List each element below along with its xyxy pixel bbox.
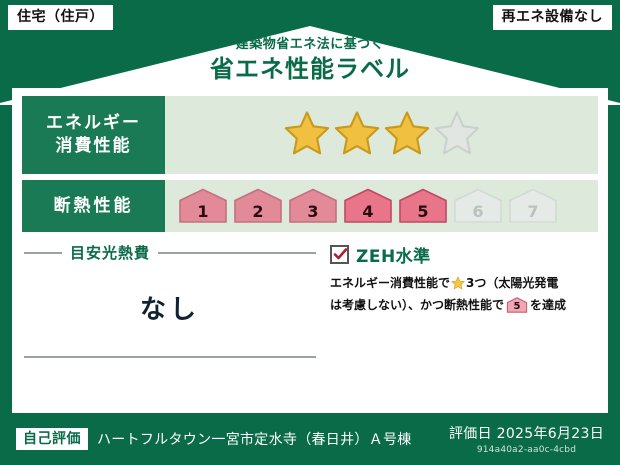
insulation-badge-4: 4	[342, 188, 394, 224]
zeh-title: ZEH水準	[356, 242, 431, 267]
insulation-badge-5: 5	[397, 188, 449, 224]
building-type-tag: 住宅（住戸）	[8, 5, 113, 30]
star-empty-icon	[434, 110, 480, 160]
star-filled-icon	[284, 110, 330, 160]
self-evaluation-badge: 自己評価	[16, 428, 88, 450]
energy-label-line1: エネルギー	[46, 112, 141, 135]
zeh-heading-row: ZEH水準	[330, 242, 596, 267]
zeh-desc-part-c: を達成	[530, 298, 566, 312]
star-filled-icon	[334, 110, 380, 160]
inline-badge-number: 5	[506, 302, 528, 312]
insulation-performance-label: 断熱性能	[22, 180, 165, 232]
energy-performance-row: エネルギー 消費性能	[22, 96, 598, 174]
label-body: エネルギー 消費性能 断熱性能 1234567 目安光熱費 なし	[12, 88, 608, 413]
zeh-desc-star-count: 3つ（太陽光発電	[466, 276, 558, 290]
label-footer: 自己評価 ハートフルタウン一宮市定水寺（春日井）Ａ号棟 評価日 2025年6月2…	[0, 413, 620, 465]
zeh-desc-part-b: は考慮しない）、かつ断熱性能で	[330, 298, 504, 312]
star-rating	[284, 110, 480, 160]
utility-cost-heading: 目安光熱費	[70, 242, 150, 263]
insulation-badge-2: 2	[232, 188, 284, 224]
zeh-checkbox[interactable]	[330, 245, 349, 264]
insulation-performance-value: 1234567	[165, 180, 598, 232]
renewable-energy-tag: 再エネ設備なし	[493, 5, 613, 30]
evaluation-id: 914a40a2-aa0c-4cbd	[449, 445, 604, 455]
energy-performance-value	[165, 96, 598, 174]
check-icon	[333, 247, 348, 262]
inline-insulation-badge: 5	[506, 297, 528, 313]
evaluation-date-line: 評価日 2025年6月23日	[449, 426, 604, 442]
energy-label-line2: 消費性能	[56, 135, 132, 158]
utility-cost-block: 目安光熱費 なし	[24, 242, 316, 358]
zeh-block: ZEH水準 エネルギー消費性能で3つ（太陽光発電は考慮しない）、かつ断熱性能で5…	[316, 242, 596, 358]
zeh-desc-part-a: エネルギー消費性能で	[330, 276, 450, 290]
insulation-level-badges: 1234567	[177, 188, 559, 224]
insulation-badge-1: 1	[177, 188, 229, 224]
cost-bottom-divider	[24, 356, 316, 358]
insulation-badge-3: 3	[287, 188, 339, 224]
evaluation-date-value: 2025年6月23日	[497, 426, 604, 442]
cost-rule-right	[158, 252, 316, 254]
star-filled-icon	[384, 110, 430, 160]
cost-rule-left	[24, 252, 62, 254]
building-name: ハートフルタウン一宮市定水寺（春日井）Ａ号棟	[97, 429, 412, 449]
zeh-description: エネルギー消費性能で3つ（太陽光発電は考慮しない）、かつ断熱性能で5を達成	[330, 274, 596, 314]
lower-section: 目安光熱費 なし ZEH水準 エネルギー消費性能で3つ（太陽光発電は考慮しな	[24, 242, 596, 358]
utility-cost-heading-row: 目安光熱費	[24, 242, 316, 263]
inline-star-icon	[451, 279, 465, 293]
utility-cost-value: なし	[24, 263, 316, 356]
energy-label-root: 建築物省エネ法に基づく 省エネ性能ラベル 住宅（住戸） 再エネ設備なし エネルギ…	[0, 0, 620, 465]
insulation-badge-7: 7	[507, 188, 559, 224]
evaluation-date-label: 評価日	[449, 426, 492, 442]
evaluation-info: 評価日 2025年6月23日 914a40a2-aa0c-4cbd	[449, 423, 604, 455]
insulation-badge-6: 6	[452, 188, 504, 224]
energy-performance-label: エネルギー 消費性能	[22, 96, 165, 174]
insulation-performance-row: 断熱性能 1234567	[22, 180, 598, 232]
